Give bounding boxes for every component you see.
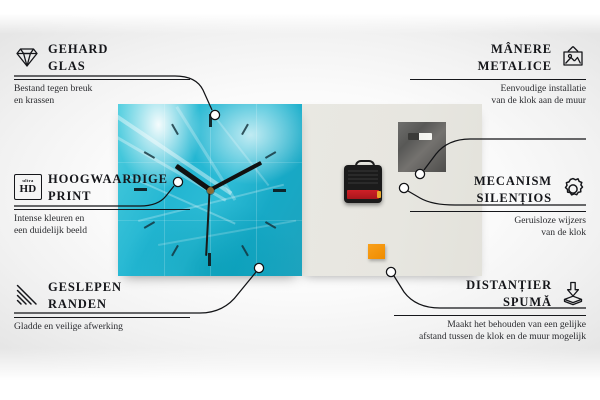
feature-metal-handles: MÂNERE METALICE Eenvoudige installatie v… [410,40,586,108]
divider [410,211,586,212]
feature-polished-edges: GESLEPEN RANDEN Gladde en veilige afwerk… [14,278,190,333]
metal-hanger [398,122,446,172]
feature-silent-mechanism: MECANISM SILENȚIOS Geruisloze wijzers va… [410,172,586,240]
divider [14,209,190,210]
battery-cap [377,191,381,198]
ultra-hd-icon: ultra HD [14,174,40,200]
feature-title: GEHARD GLAS [48,40,108,75]
diamond-icon [14,44,40,70]
quartz-mechanism [344,165,382,203]
feature-description: Geruisloze wijzers van de klok [410,215,586,240]
foam-spacer [368,244,385,259]
clock-hub [207,187,214,194]
mechanism-grille [348,170,378,186]
divider [14,79,190,80]
feature-high-quality-print: ultra HD HOOGWAARDIGE PRINT Intense kleu… [14,170,190,238]
feature-description: Gladde en veilige afwerking [14,321,190,334]
feature-foam-spacer: DISTANȚIER SPUMĂ Maakt het behouden van … [394,276,586,344]
feature-title: MÂNERE METALICE [478,40,552,75]
divider [394,315,586,316]
feature-description: Maakt het behouden van een gelijke afsta… [394,319,586,344]
divider [410,79,586,80]
feature-description: Intense kleuren en een duidelijk beeld [14,213,190,238]
feature-title: HOOGWAARDIGE PRINT [48,170,168,205]
framed-picture-icon [560,44,586,70]
gear-icon [560,176,586,202]
feature-title: GESLEPEN RANDEN [48,278,122,313]
mechanism-hook [355,160,375,170]
spacer-arrow-icon [560,280,586,306]
feature-tempered-glass: GEHARD GLAS Bestand tegen breuk en krass… [14,40,190,108]
feature-title: DISTANȚIER SPUMĂ [466,276,552,311]
feature-description: Eenvoudige installatie van de klok aan d… [410,83,586,108]
feature-description: Bestand tegen breuk en krassen [14,83,190,108]
battery [347,190,379,199]
beveled-edges-icon [14,282,40,308]
hanger-slot [408,133,432,140]
feature-title: MECANISM SILENȚIOS [474,172,552,207]
product-infographic: GEHARD GLAS Bestand tegen breuk en krass… [0,0,600,400]
divider [14,317,190,318]
